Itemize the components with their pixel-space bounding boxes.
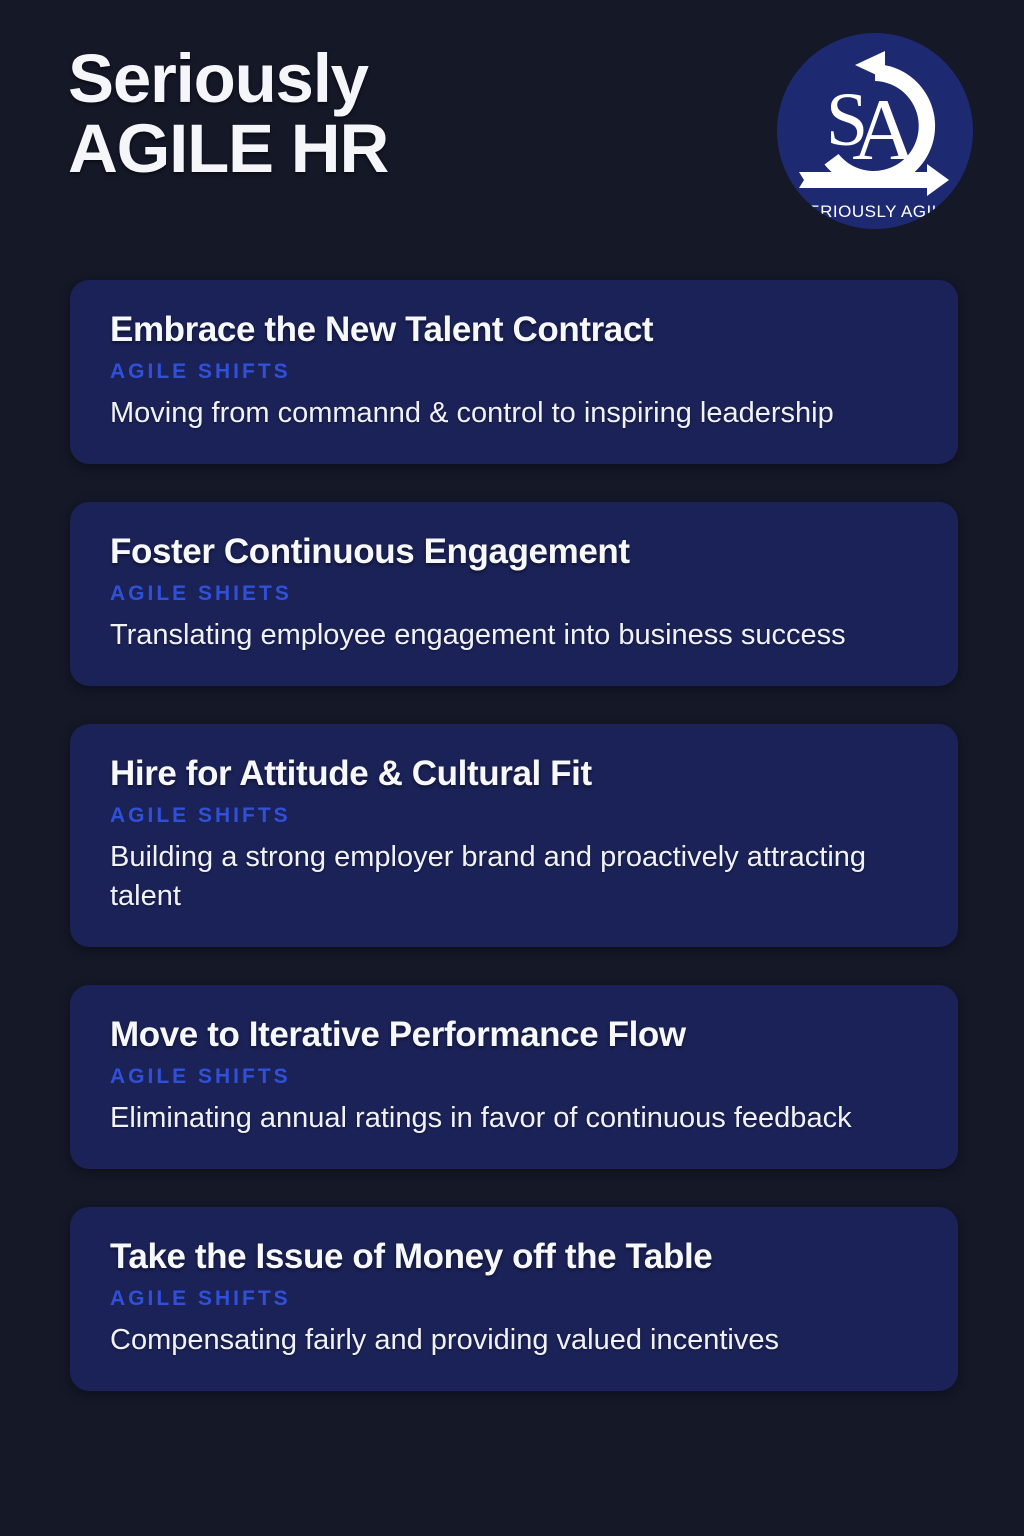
agile-shift-card[interactable]: Embrace the New Talent Contract AGILE SH… [70,280,958,464]
card-eyebrow-label: AGILE SHIETS [110,581,918,606]
monogram-a: A [852,82,916,179]
card-eyebrow-label: AGILE SHIFTS [110,803,918,828]
page-title-line-2: AGILE HR [68,114,388,184]
card-title: Embrace the New Talent Contract [110,310,918,349]
card-description: Moving from commannd & control to inspir… [110,394,870,433]
agile-shift-card[interactable]: Hire for Attitude & Cultural Fit AGILE S… [70,724,958,947]
agile-shift-card[interactable]: Take the Issue of Money off the Table AG… [70,1207,958,1391]
loop-arrowhead-icon [855,51,885,79]
card-title: Foster Continuous Engagement [110,532,918,571]
card-title: Take the Issue of Money off the Table [110,1237,918,1276]
page-title: Seriously AGILE HR [68,44,388,185]
card-description: Eliminating annual ratings in favor of c… [110,1099,870,1138]
logo-mark: S A SERIOUSLY AGILE [777,33,973,229]
card-title: Hire for Attitude & Cultural Fit [110,754,918,793]
agile-shift-card[interactable]: Foster Continuous Engagement AGILE SHIET… [70,502,958,686]
card-eyebrow-label: AGILE SHIFTS [110,1286,918,1311]
card-description: Translating employee engagement into bus… [110,616,870,655]
seriously-agile-logo: S A SERIOUSLY AGILE [777,33,973,229]
card-title: Move to Iterative Performance Flow [110,1015,918,1054]
card-eyebrow-label: AGILE SHIFTS [110,359,918,384]
card-eyebrow-label: AGILE SHIFTS [110,1064,918,1089]
card-description: Building a strong employer brand and pro… [110,838,870,917]
agile-shift-card-list: Embrace the New Talent Contract AGILE SH… [70,280,958,1429]
agile-shift-card[interactable]: Move to Iterative Performance Flow AGILE… [70,985,958,1169]
logo-wordmark: SERIOUSLY AGILE [796,202,953,221]
page-title-line-1: Seriously [68,44,388,114]
card-description: Compensating fairly and providing valued… [110,1321,870,1360]
page-header: Seriously AGILE HR S A SERIOUSLY AGILE [0,0,1024,258]
